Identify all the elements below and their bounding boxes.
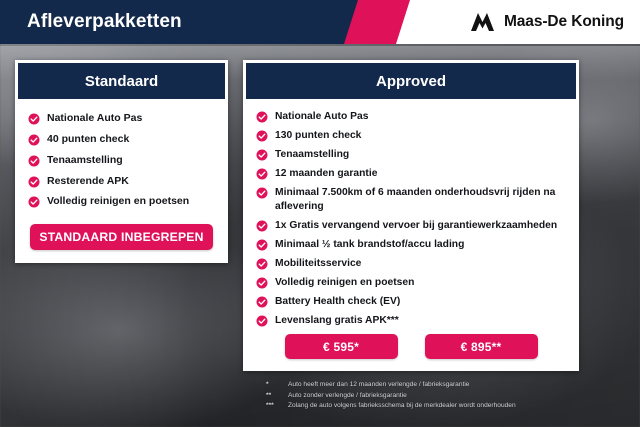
feature-item: Tenaamstelling bbox=[256, 148, 571, 162]
footnote-text: Zolang de auto volgens fabrieksschema bi… bbox=[288, 401, 516, 412]
feature-item: 130 punten check bbox=[256, 129, 571, 143]
price-button[interactable]: € 595* bbox=[285, 334, 398, 359]
footnote-text: Auto heeft meer dan 12 maanden verlengde… bbox=[288, 380, 469, 391]
check-circle-icon bbox=[256, 130, 268, 142]
feature-label: 12 maanden garantie bbox=[275, 167, 377, 181]
check-circle-icon bbox=[256, 258, 268, 270]
feature-label: Volledig reinigen en poetsen bbox=[47, 195, 189, 209]
footnote-marker: *** bbox=[266, 401, 288, 412]
header-bar: Afleverpakketten Maas-De Koning bbox=[0, 0, 640, 44]
check-circle-icon bbox=[28, 113, 40, 125]
card-body-approved: Nationale Auto Pas130 punten checkTenaam… bbox=[243, 99, 579, 328]
feature-list-standaard: Nationale Auto Pas40 punten checkTenaams… bbox=[15, 99, 228, 209]
feature-item: Tenaamstelling bbox=[28, 154, 218, 168]
footnote-marker: ** bbox=[266, 391, 288, 402]
feature-item: Volledig reinigen en poetsen bbox=[256, 276, 571, 290]
check-circle-icon bbox=[28, 155, 40, 167]
footnote-text: Auto zonder verlengde / fabrieksgarantie bbox=[288, 391, 407, 402]
maas-de-koning-m-logo-icon bbox=[470, 12, 495, 32]
feature-item: Minimaal 7.500km of 6 maanden onderhouds… bbox=[256, 186, 571, 213]
card-heading-approved: Approved bbox=[246, 63, 576, 99]
feature-label: Nationale Auto Pas bbox=[275, 110, 368, 124]
check-circle-icon bbox=[28, 176, 40, 188]
feature-item: 40 punten check bbox=[28, 133, 218, 147]
check-circle-icon bbox=[256, 315, 268, 327]
price-button-row: € 595*€ 895** bbox=[243, 334, 579, 359]
feature-label: Resterende APK bbox=[47, 175, 129, 189]
feature-list-approved: Nationale Auto Pas130 punten checkTenaam… bbox=[243, 99, 579, 328]
feature-label: Minimaal ½ tank brandstof/accu lading bbox=[275, 238, 464, 252]
feature-label: 130 punten check bbox=[275, 129, 361, 143]
feature-item: 12 maanden garantie bbox=[256, 167, 571, 181]
package-card-approved: Approved Nationale Auto Pas130 punten ch… bbox=[243, 60, 579, 371]
check-circle-icon bbox=[28, 134, 40, 146]
package-card-standaard: Standaard Nationale Auto Pas40 punten ch… bbox=[15, 60, 228, 263]
card-body-standaard: Nationale Auto Pas40 punten checkTenaams… bbox=[15, 99, 228, 209]
feature-item: Resterende APK bbox=[28, 175, 218, 189]
check-circle-icon bbox=[256, 277, 268, 289]
feature-item: Levenslang gratis APK*** bbox=[256, 314, 571, 328]
feature-item: 1x Gratis vervangend vervoer bij garanti… bbox=[256, 219, 571, 233]
feature-label: Minimaal 7.500km of 6 maanden onderhouds… bbox=[275, 186, 571, 213]
feature-item: Minimaal ½ tank brandstof/accu lading bbox=[256, 238, 571, 252]
feature-item: Nationale Auto Pas bbox=[28, 112, 218, 126]
check-circle-icon bbox=[256, 149, 268, 161]
feature-item: Battery Health check (EV) bbox=[256, 295, 571, 309]
feature-item: Volledig reinigen en poetsen bbox=[28, 195, 218, 209]
check-circle-icon bbox=[256, 111, 268, 123]
check-circle-icon bbox=[256, 220, 268, 232]
footnote-block: *Auto heeft meer dan 12 maanden verlengd… bbox=[266, 380, 596, 412]
check-circle-icon bbox=[256, 296, 268, 308]
footnote-row: **Auto zonder verlengde / fabrieksgarant… bbox=[266, 391, 596, 402]
footnote-row: *Auto heeft meer dan 12 maanden verlengd… bbox=[266, 380, 596, 391]
feature-label: Tenaamstelling bbox=[47, 154, 123, 168]
check-circle-icon bbox=[28, 196, 40, 208]
card-heading-standaard: Standaard bbox=[18, 63, 225, 99]
feature-label: Mobiliteitsservice bbox=[275, 257, 361, 271]
feature-item: Nationale Auto Pas bbox=[256, 110, 571, 124]
brand-name: Maas-De Koning bbox=[504, 13, 624, 31]
price-button[interactable]: € 895** bbox=[425, 334, 538, 359]
brand-lockup: Maas-De Koning bbox=[470, 0, 624, 44]
feature-item: Mobiliteitsservice bbox=[256, 257, 571, 271]
feature-label: 40 punten check bbox=[47, 133, 129, 147]
page-title: Afleverpakketten bbox=[27, 0, 182, 44]
standaard-inbegrepen-button[interactable]: STANDAARD INBEGREPEN bbox=[30, 224, 213, 250]
footnote-row: ***Zolang de auto volgens fabrieksschema… bbox=[266, 401, 596, 412]
feature-label: 1x Gratis vervangend vervoer bij garanti… bbox=[275, 219, 557, 233]
feature-label: Tenaamstelling bbox=[275, 148, 349, 162]
feature-label: Nationale Auto Pas bbox=[47, 112, 142, 126]
promo-graphic: Afleverpakketten Maas-De Koning Standaar… bbox=[0, 0, 640, 427]
feature-label: Levenslang gratis APK*** bbox=[275, 314, 399, 328]
feature-label: Volledig reinigen en poetsen bbox=[275, 276, 414, 290]
feature-label: Battery Health check (EV) bbox=[275, 295, 400, 309]
check-circle-icon bbox=[256, 239, 268, 251]
check-circle-icon bbox=[256, 168, 268, 180]
footnote-marker: * bbox=[266, 380, 288, 391]
check-circle-icon bbox=[256, 187, 268, 199]
